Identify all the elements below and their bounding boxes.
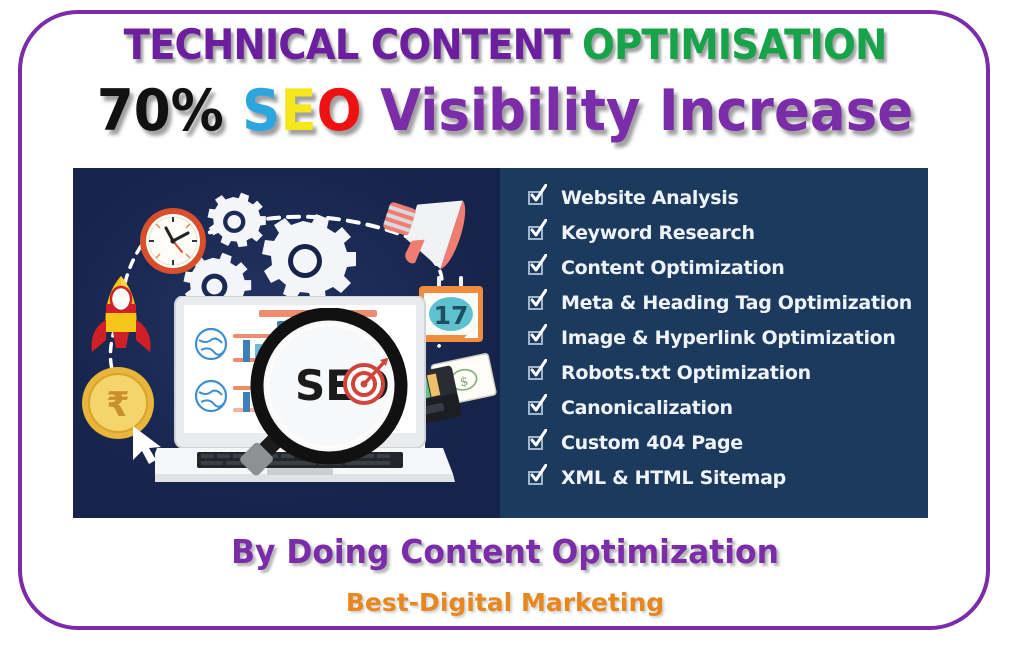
footer-line-1: By Doing Content Optimization [25,532,985,571]
clock-icon [140,208,206,274]
list-item[interactable]: Website Analysis [528,180,928,215]
checkbox-checked-icon [528,294,547,311]
checkbox-checked-icon [528,329,547,346]
list-item-label: Content Optimization [561,257,784,279]
list-item-label: Keyword Research [561,222,755,244]
feature-checklist: Website Analysis Keyword Research Conten… [528,180,928,495]
checkbox-checked-icon [528,189,547,206]
list-item-label: Robots.txt Optimization [561,362,811,384]
seo-letter-e: E [280,78,316,144]
list-item-label: Website Analysis [561,187,738,209]
footer-line-2: Best-Digital Marketing [0,588,1010,617]
svg-text:₹: ₹ [106,385,130,425]
sub-title-rest: Visibility Increase [380,78,913,144]
checkbox-checked-icon [528,259,547,276]
stat-percent: 70% [97,78,224,144]
sub-title: 70% SEO Visibility Increase [35,80,974,142]
list-item[interactable]: Meta & Heading Tag Optimization [528,285,928,320]
rupee-coin-icon: ₹ [82,367,154,439]
magnifier-icon: SEO [233,308,493,518]
illustration-panel: ₹ 17 [73,168,928,518]
checkbox-checked-icon [528,434,547,451]
list-item-label: XML & HTML Sitemap [561,467,786,489]
seo-letter-o: O [317,78,362,144]
megaphone-icon [375,179,472,275]
checkbox-checked-icon [528,399,547,416]
list-item[interactable]: Image & Hyperlink Optimization [528,320,928,355]
rocket-icon [92,276,151,352]
list-item[interactable]: Custom 404 Page [528,425,928,460]
list-item[interactable]: Robots.txt Optimization [528,355,928,390]
seo-letter-s: S [242,78,280,144]
title-part-technical-content: TECHNICAL CONTENT [124,20,570,69]
list-item-label: Canonicalization [561,397,733,419]
checkbox-checked-icon [528,364,547,381]
list-item[interactable]: Content Optimization [528,250,928,285]
list-item[interactable]: Keyword Research [528,215,928,250]
checkbox-checked-icon [528,224,547,241]
title-part-optimisation: OPTIMISATION [582,20,886,69]
list-item-label: Image & Hyperlink Optimization [561,327,896,349]
list-item-label: Meta & Heading Tag Optimization [561,292,912,314]
list-item-label: Custom 404 Page [561,432,743,454]
checkbox-checked-icon [528,469,547,486]
page-title: TECHNICAL CONTENT OPTIMISATION [40,22,969,68]
list-item[interactable]: XML & HTML Sitemap [528,460,928,495]
list-item[interactable]: Canonicalization [528,390,928,425]
poster-canvas: TECHNICAL CONTENT OPTIMISATION 70% SEO V… [0,0,1010,647]
